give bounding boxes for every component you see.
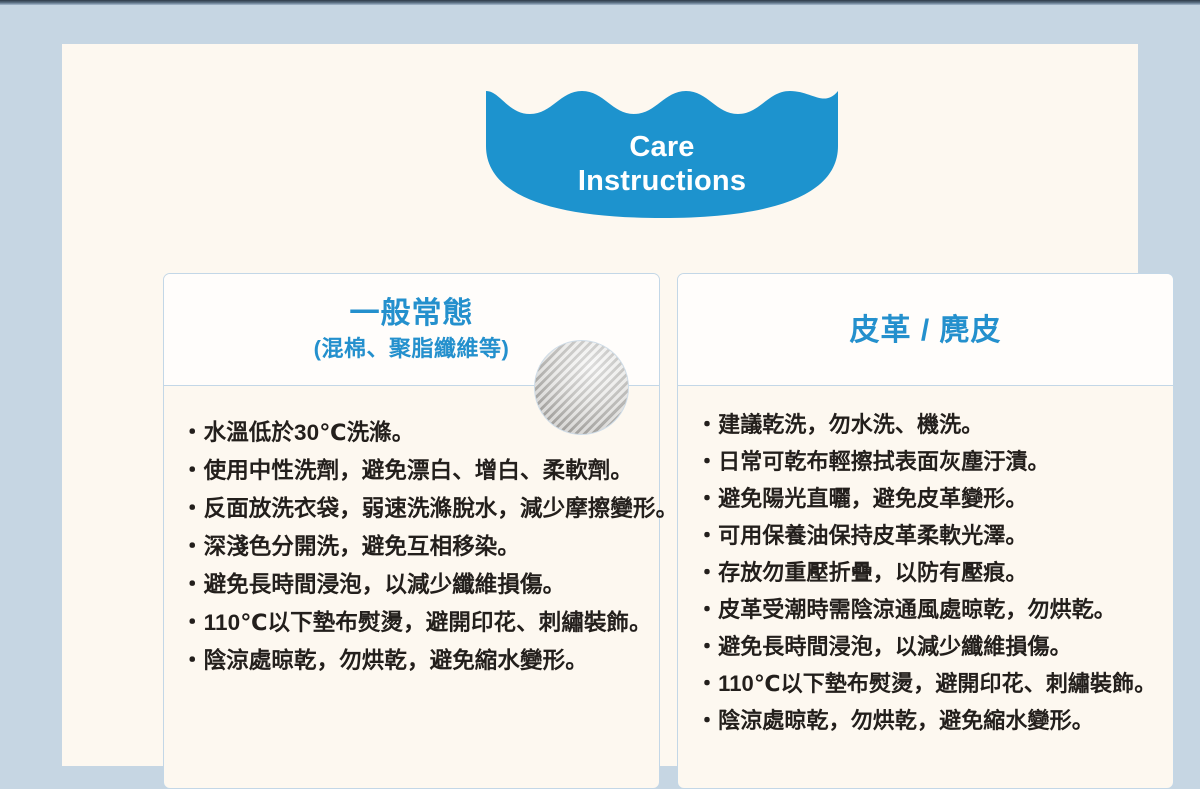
list-item: ・避免陽光直曬，避免皮革變形。 [696,480,1173,517]
content-panel: Care Instructions 一般常態 (混棉、聚脂纖維等) ・水溫低於3… [62,44,1138,766]
list-item: ・110℃以下墊布熨燙，避開印花、刺繡裝飾。 [181,604,659,642]
care-card-general-subtitle: (混棉、聚脂纖維等) [314,335,510,364]
top-section-edge-strip [0,0,1200,5]
care-card-leather-header: 皮革 / 麂皮 [678,274,1173,386]
banner-wave-shape [486,88,838,218]
care-card-leather-title: 皮革 / 麂皮 [849,312,1001,350]
list-item: ・深淺色分開洗，避免互相移染。 [181,528,659,566]
care-card-general-title: 一般常態 [350,295,474,333]
list-item: ・可用保養油保持皮革柔軟光澤。 [696,517,1173,554]
list-item: ・陰涼處晾乾，勿烘乾，避免縮水變形。 [696,702,1173,739]
list-item: ・皮革受潮時需陰涼通風處晾乾，勿烘乾。 [696,591,1173,628]
care-card-general: 一般常態 (混棉、聚脂纖維等) ・水溫低於30℃洗滌。 ・使用中性洗劑，避免漂白… [163,273,660,789]
care-card-leather-body: ・建議乾洗，勿水洗、機洗。 ・日常可乾布輕擦拭表面灰塵汙漬。 ・避免陽光直曬，避… [678,386,1173,739]
grey-fabric-swatch [534,340,629,435]
list-item: ・110℃以下墊布熨燙，避開印花、刺繡裝飾。 [696,665,1173,702]
care-card-leather: 皮革 / 麂皮 ・建議乾洗，勿水洗、機洗。 ・日常可乾布輕擦拭表面灰塵汙漬。 ・… [677,273,1174,789]
list-item: ・存放勿重壓折疊，以防有壓痕。 [696,554,1173,591]
list-item: ・避免長時間浸泡，以減少纖維損傷。 [181,566,659,604]
list-item: ・日常可乾布輕擦拭表面灰塵汙漬。 [696,443,1173,480]
care-cards-container: 一般常態 (混棉、聚脂纖維等) ・水溫低於30℃洗滌。 ・使用中性洗劑，避免漂白… [163,273,1175,789]
list-item: ・反面放洗衣袋，弱速洗滌脫水，減少摩擦變形。 [181,490,659,528]
list-item: ・建議乾洗，勿水洗、機洗。 [696,406,1173,443]
care-instructions-banner: Care Instructions [486,88,838,218]
list-item: ・陰涼處晾乾，勿烘乾，避免縮水變形。 [181,642,659,680]
list-item: ・使用中性洗劑，避免漂白、增白、柔軟劑。 [181,452,659,490]
list-item: ・避免長時間浸泡，以減少纖維損傷。 [696,628,1173,665]
